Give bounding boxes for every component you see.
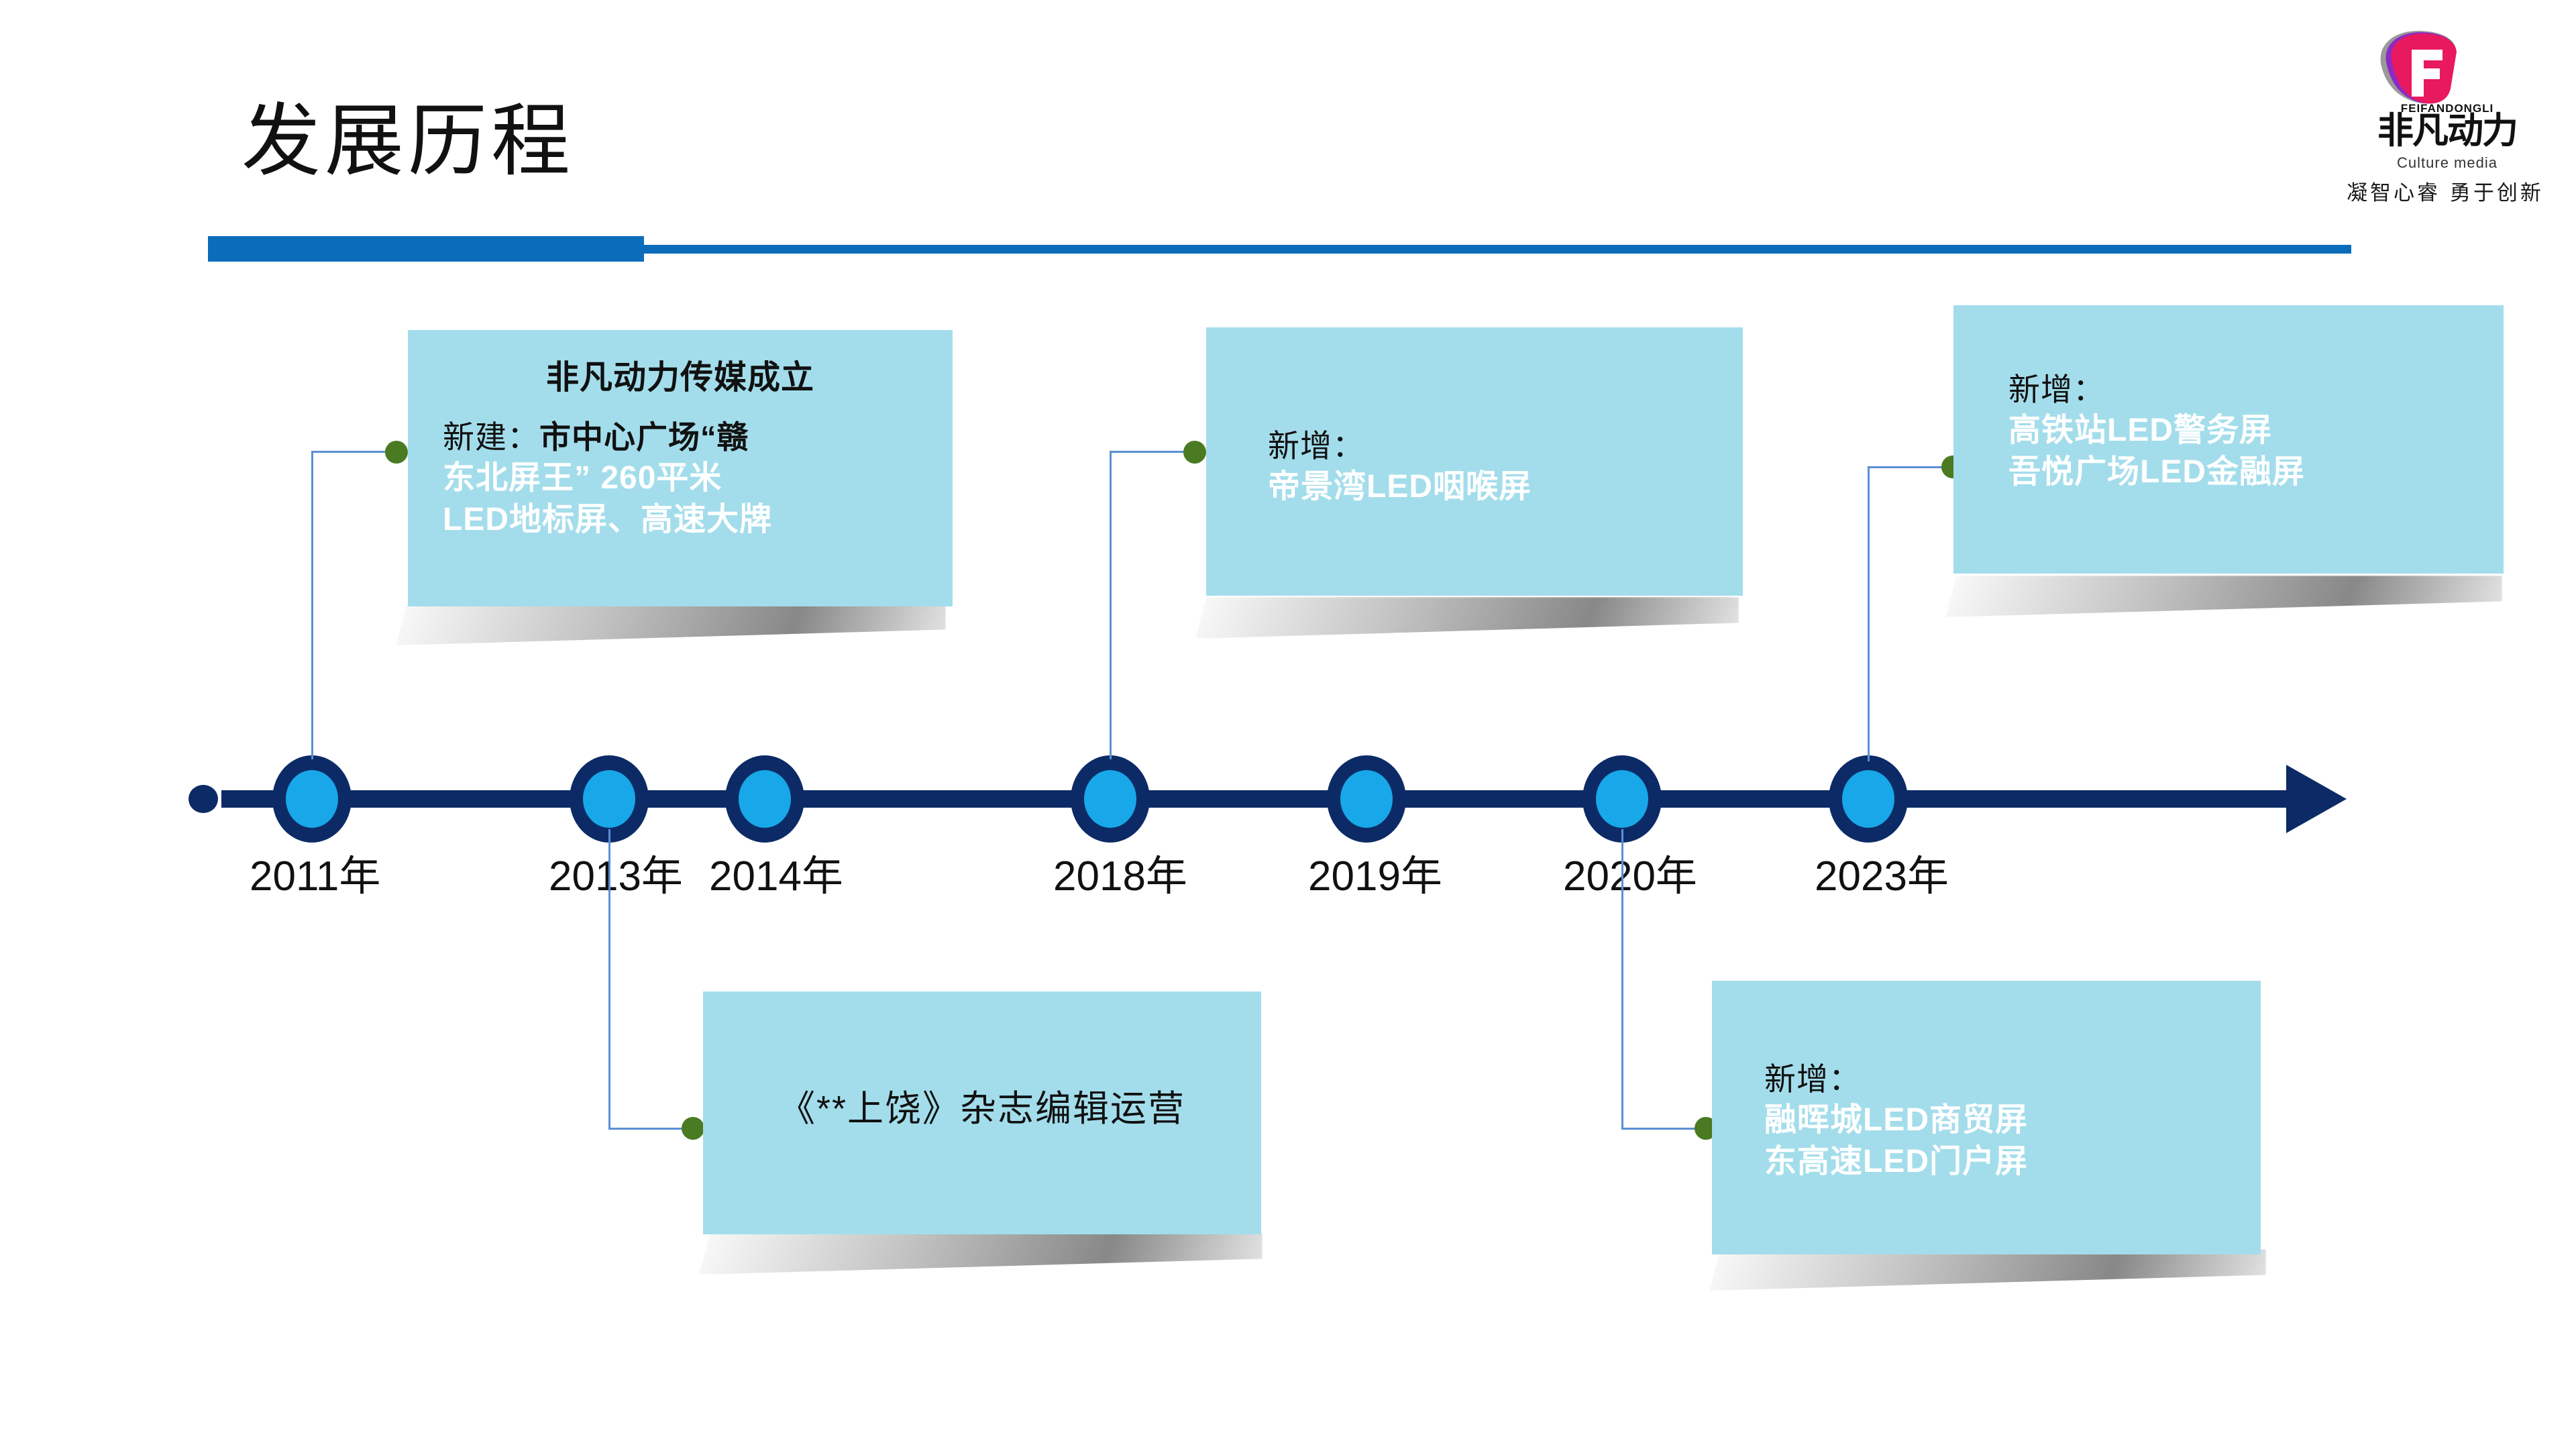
- marker-inner-circle: [583, 770, 635, 828]
- card-title: 非凡动力传媒成立: [408, 358, 953, 398]
- title-underline-thin: [644, 245, 2351, 254]
- logo-company-name: 非凡动力: [2350, 113, 2544, 149]
- logo-tagline: 凝智心睿 勇于创新: [2345, 176, 2546, 206]
- card-body-line: 帝景湾LED咽喉屏: [1268, 466, 1743, 508]
- leader-vertical: [1621, 829, 1623, 1128]
- card-body: 《**上饶》杂志编辑运营: [703, 991, 1261, 1132]
- card-body-line: 东高速LED门户屏: [1764, 1141, 2261, 1183]
- leader-vertical: [311, 451, 313, 759]
- card-body-line: 吾悦广场LED金融屏: [2008, 451, 2504, 493]
- title-underline-thick: [208, 236, 644, 262]
- leader-vertical: [608, 829, 610, 1128]
- card-body: 新增： 帝景湾LED咽喉屏: [1206, 327, 1743, 508]
- timeline-marker-2023[interactable]: [1829, 755, 1908, 843]
- card-2013[interactable]: 《**上饶》杂志编辑运营: [703, 991, 1261, 1234]
- company-logo: FEIFANDONGLI 非凡动力 Culture media 凝智心睿 勇于创…: [2345, 27, 2546, 221]
- card-2023[interactable]: 新增： 高铁站LED警务屏 吾悦广场LED金融屏: [1953, 305, 2504, 574]
- leader-horizontal: [1621, 1128, 1705, 1130]
- timeline-marker-2014[interactable]: [725, 755, 804, 843]
- timeline-marker-2018[interactable]: [1071, 755, 1150, 843]
- card-lead: 新增：: [1764, 1060, 2261, 1099]
- card-shadow-2011: [396, 604, 946, 645]
- year-label-2013: 2013年: [549, 842, 683, 902]
- year-label-2019: 2019年: [1308, 842, 1442, 902]
- card-lead: 新增：: [2008, 370, 2504, 410]
- leader-horizontal: [1110, 451, 1193, 453]
- card-2018[interactable]: 新增： 帝景湾LED咽喉屏: [1206, 327, 1743, 596]
- marker-inner-circle: [286, 770, 338, 828]
- logo-f-mark-icon: [2371, 27, 2465, 107]
- timeline-arrowhead-icon: [2286, 765, 2347, 833]
- marker-inner-circle: [1842, 770, 1894, 828]
- card-lead: 新增：: [1268, 427, 1743, 466]
- card-body: 新增： 融晖城LED商贸屏 东高速LED门户屏: [1712, 981, 2261, 1183]
- logo-subtitle: Culture media: [2350, 154, 2544, 172]
- card-shadow-2018: [1195, 597, 1739, 639]
- card-lead: 新建：: [443, 419, 539, 455]
- marker-inner-circle: [1596, 770, 1648, 828]
- timeline-axis: [221, 790, 2301, 808]
- marker-inner-circle: [739, 770, 791, 828]
- leader-horizontal: [311, 451, 395, 453]
- timeline-marker-2019[interactable]: [1327, 755, 1406, 843]
- card-shadow-2013: [699, 1233, 1263, 1275]
- timeline-start-dot: [189, 785, 218, 813]
- card-body-line: LED地标屏、高速大牌: [443, 499, 932, 541]
- leader-horizontal: [608, 1128, 692, 1130]
- page-title: 发展历程: [241, 101, 574, 184]
- card-body: 新建：市中心广场“赣 东北屏王” 260平米 LED地标屏、高速大牌: [443, 418, 932, 541]
- card-shadow-2023: [1945, 576, 2502, 617]
- timeline-marker-2011[interactable]: [272, 755, 352, 843]
- marker-inner-circle: [1340, 770, 1393, 828]
- card-body-line: 融晖城LED商贸屏: [1764, 1099, 2261, 1141]
- card-2020[interactable]: 新增： 融晖城LED商贸屏 东高速LED门户屏: [1712, 981, 2261, 1254]
- leader-endpoint-dot: [385, 441, 408, 464]
- card-lead-emphasis: 市中心广场“赣: [539, 419, 749, 455]
- year-label-2020: 2020年: [1563, 842, 1697, 902]
- marker-inner-circle: [1084, 770, 1136, 828]
- leader-endpoint-dot: [1183, 441, 1206, 464]
- card-2011[interactable]: 非凡动力传媒成立 新建：市中心广场“赣 东北屏王” 260平米 LED地标屏、高…: [408, 330, 953, 606]
- year-label-2018: 2018年: [1053, 842, 1187, 902]
- year-label-2011: 2011年: [250, 842, 380, 902]
- year-label-2023: 2023年: [1815, 842, 1949, 902]
- year-label-2014: 2014年: [709, 842, 843, 902]
- leader-vertical: [1868, 466, 1870, 761]
- card-shadow-2020: [1709, 1249, 2266, 1291]
- card-body-line: 东北屏王” 260平米: [443, 458, 932, 499]
- card-body: 新增： 高铁站LED警务屏 吾悦广场LED金融屏: [1953, 305, 2504, 494]
- card-body-line: 高铁站LED警务屏: [2008, 410, 2504, 451]
- leader-vertical: [1110, 451, 1112, 759]
- card-body-line: 《**上饶》杂志编辑运营: [716, 1085, 1248, 1132]
- leader-endpoint-dot: [682, 1117, 704, 1140]
- leader-horizontal: [1868, 466, 1951, 468]
